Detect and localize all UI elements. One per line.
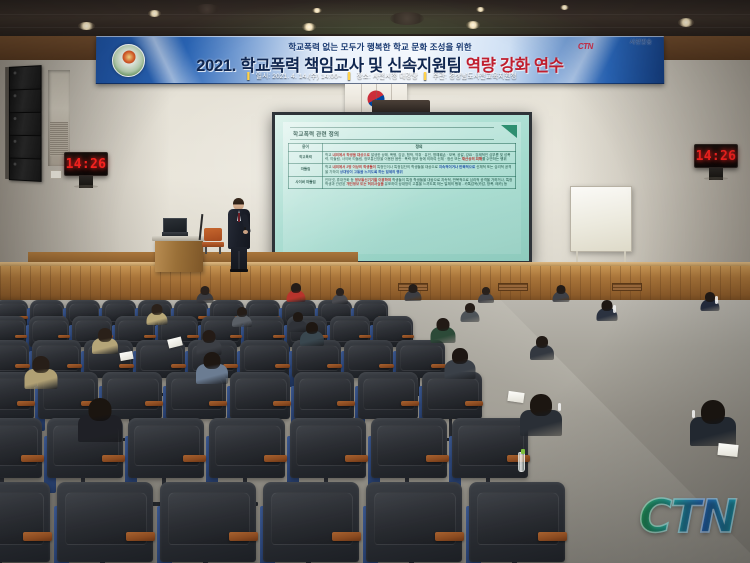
audience-member: [700, 292, 719, 311]
armrest: [230, 335, 242, 338]
audience-member: [300, 322, 324, 346]
audience-head: [237, 307, 247, 317]
presenter: [228, 198, 250, 272]
wall-speaker-grill: [50, 122, 68, 156]
seat-back[interactable]: [290, 418, 366, 478]
seat-back[interactable]: [294, 372, 354, 419]
slide-col-term: 용어: [289, 143, 323, 151]
audience-member: [520, 394, 562, 436]
armrest: [465, 401, 483, 406]
armrest: [538, 532, 567, 541]
audience-head: [530, 394, 552, 416]
ctn-watermark: CTN: [639, 490, 736, 543]
audience-member: [196, 286, 213, 303]
speaker-module: [9, 65, 42, 89]
seat-back[interactable]: [358, 372, 418, 419]
stage-vent: [498, 283, 528, 291]
armrest: [426, 455, 449, 462]
armrest: [332, 532, 361, 541]
audience-member: [196, 352, 228, 384]
slide-table-header-row: 용어 정의: [289, 143, 516, 151]
audience-member: [460, 303, 479, 322]
seat-back[interactable]: [0, 482, 50, 562]
seat-back[interactable]: [422, 372, 482, 419]
lectern: [155, 240, 203, 272]
audience-head: [536, 336, 548, 348]
armrest: [379, 364, 394, 368]
armrest: [23, 532, 52, 541]
audience-member: [552, 285, 569, 302]
banner-info-sep: ▌: [247, 73, 252, 80]
armrest: [21, 455, 44, 462]
armrest: [183, 455, 206, 462]
armrest: [102, 455, 125, 462]
audience-member: [78, 398, 122, 442]
seat-back[interactable]: [209, 418, 285, 478]
armrest: [264, 455, 287, 462]
seat-back[interactable]: [263, 482, 359, 562]
event-banner: CTN 사천방송 학교폭력 없는 모두가 행복한 학교 문화 조성을 위한 20…: [96, 36, 664, 84]
ceiling: [0, 0, 750, 40]
presentation-slide: 학교폭력 관련 정의 용어 정의 학교폭력학교 내외에서 학생을 대상으로 발생…: [283, 122, 521, 254]
armrest: [15, 335, 27, 338]
audience-head: [204, 352, 221, 369]
audience-head: [482, 287, 490, 295]
laptop-screen: [163, 218, 187, 233]
ceiling-spotlight: [312, 8, 322, 13]
slide-row-term: 따돌림: [289, 164, 323, 176]
face-mask-strap: [692, 410, 695, 418]
water-bottle: [518, 452, 525, 472]
armrest: [345, 455, 368, 462]
seat-back[interactable]: [230, 372, 290, 419]
banner-host-label: 주관: [433, 73, 445, 80]
seat-back[interactable]: [128, 418, 204, 478]
audience-head: [306, 322, 318, 334]
seat-back[interactable]: [469, 482, 565, 562]
audience-head: [336, 288, 344, 296]
ceiling-spotlight: [678, 18, 694, 27]
wall-outlet: [50, 170, 62, 179]
armrest: [171, 364, 186, 368]
ceiling-spotlight: [476, 7, 485, 12]
ceiling-spotlight: [148, 10, 161, 17]
audience-head: [452, 348, 468, 364]
audience-head: [701, 400, 725, 424]
projection-screen: 학교폭력 관련 정의 용어 정의 학교폭력학교 내외에서 학생을 대상으로 발생…: [272, 112, 532, 264]
stage-chair: [202, 228, 224, 254]
seat-back[interactable]: [366, 482, 462, 562]
ceiling-vent: [194, 4, 220, 14]
banner-datetime-value: 2021. 4. 14.(수) 14:00~: [272, 73, 342, 80]
audience-member: [146, 304, 167, 325]
audience-member: [24, 356, 57, 389]
armrest: [435, 532, 464, 541]
speaker-module: [9, 135, 42, 159]
slide-title: 학교폭력 관련 정의: [290, 127, 494, 140]
face-mask-strap: [715, 296, 718, 304]
audience-member: [478, 287, 494, 303]
audience-head: [32, 356, 49, 373]
digital-clock-left: 14:26: [64, 152, 108, 176]
slide-table: 용어 정의 학교폭력학교 내외에서 학생을 대상으로 발생한 상해, 폭행, 감…: [288, 143, 516, 189]
audience-head: [202, 330, 215, 343]
speaker-module: [9, 112, 42, 135]
laptop-keyboard: [162, 232, 188, 236]
slide-table-row: 학교폭력학교 내외에서 학생을 대상으로 발생한 상해, 폭행, 감금, 협박,…: [289, 151, 516, 163]
audience-head: [293, 312, 303, 322]
armrest: [401, 401, 419, 406]
audience-member: [444, 348, 475, 379]
clock-left-time: 14:26: [66, 157, 107, 172]
ceiling-vent: [390, 12, 424, 25]
armrest: [273, 401, 291, 406]
armrest: [327, 364, 342, 368]
ceiling-spotlight: [302, 23, 316, 31]
audience-head: [705, 292, 715, 302]
audience-member: [430, 318, 455, 343]
audience-member: [530, 336, 554, 360]
seat-back[interactable]: [452, 418, 528, 478]
armrest: [275, 364, 290, 368]
banner-place-label: 장소: [357, 73, 369, 80]
audience-member: [690, 400, 736, 446]
audience-head: [601, 300, 612, 311]
armrest: [337, 401, 355, 406]
audience-member: [232, 307, 252, 327]
slide-row-term: 사이버 따돌림: [289, 176, 323, 188]
slide-row-definition: 인터넷, 휴대전화 등 정보통신기기를 이용하여 학생들이 특정 학생들을 대상…: [323, 176, 516, 188]
armrest: [402, 335, 414, 338]
armrest: [17, 401, 35, 406]
slide-row-term: 학교폭력: [289, 151, 323, 163]
seat-back[interactable]: [0, 418, 42, 478]
audience-head: [465, 303, 475, 313]
whiteboard: [570, 186, 632, 252]
ceiling-spotlight: [78, 22, 95, 30]
audience-head: [408, 284, 417, 293]
handout-paper: [507, 391, 524, 403]
clock-right-bracket: [709, 168, 723, 180]
seat-back[interactable]: [160, 482, 256, 562]
audience-member: [404, 284, 421, 301]
stage-vent: [612, 283, 642, 291]
auditorium-photo: CTN 사천방송 학교폭력 없는 모두가 행복한 학교 문화 조성을 위한 20…: [0, 0, 750, 563]
banner-info-sep: ▌: [348, 73, 353, 80]
handout-paper: [717, 443, 738, 457]
armrest: [144, 335, 156, 338]
audience-member: [286, 283, 305, 302]
slide-table-row: 따돌림학교 내외에서 2명 이상의 학생들이 특정인이나 특정집단의 학생들을 …: [289, 164, 516, 176]
armrest: [126, 532, 155, 541]
clock-left-bracket: [79, 176, 93, 188]
audience-head: [436, 318, 449, 331]
slide-row-definition: 학교 내외에서 학생을 대상으로 발생한 상해, 폭행, 감금, 협박, 약취 …: [323, 151, 516, 163]
armrest: [359, 335, 371, 338]
ceiling-spotlight: [466, 21, 480, 29]
banner-place-value: 사천시청 대강당: [373, 73, 418, 80]
audience-head: [556, 285, 565, 294]
armrest: [209, 401, 227, 406]
armrest: [145, 401, 163, 406]
line-array-speaker-stack: [9, 65, 42, 181]
armrest: [67, 364, 82, 368]
armrest: [229, 532, 258, 541]
armrest: [119, 364, 134, 368]
slide-corner-accent: [501, 125, 517, 138]
armrest: [58, 335, 70, 338]
audience-head: [291, 283, 301, 293]
slide-table-row: 사이버 따돌림인터넷, 휴대전화 등 정보통신기기를 이용하여 학생들이 특정 …: [289, 176, 516, 188]
audience-member: [332, 288, 348, 304]
audience-head: [98, 328, 112, 342]
banner-datetime-label: 일시: [256, 73, 268, 80]
audience-member: [596, 300, 617, 321]
ceiling-spotlight: [560, 5, 569, 10]
seat-back[interactable]: [57, 482, 153, 562]
digital-clock-right: 14:26: [694, 144, 738, 168]
armrest: [273, 335, 285, 338]
audience-member: [92, 328, 118, 354]
audience-head: [89, 398, 112, 421]
speaker-module: [9, 157, 42, 181]
audience-head: [151, 304, 162, 315]
speaker-module: [9, 88, 42, 112]
banner-host-value: 경상남도사천교육지원청: [449, 73, 517, 80]
banner-info-line: ▌일시: 2021. 4. 14.(수) 14:00~ ▌장소: 사천시청 대강…: [96, 70, 664, 80]
clock-right-time: 14:26: [696, 149, 737, 164]
seat-back[interactable]: [371, 418, 447, 478]
face-mask-strap: [558, 403, 561, 411]
banner-info-sep: ▌: [424, 73, 429, 80]
slide-row-definition: 학교 내외에서 2명 이상의 학생들이 특정인이나 특정집단의 학생들을 대상으…: [323, 164, 516, 176]
slide-col-definition: 정의: [323, 143, 516, 151]
face-mask-strap: [613, 305, 616, 313]
audience-head: [200, 286, 209, 295]
